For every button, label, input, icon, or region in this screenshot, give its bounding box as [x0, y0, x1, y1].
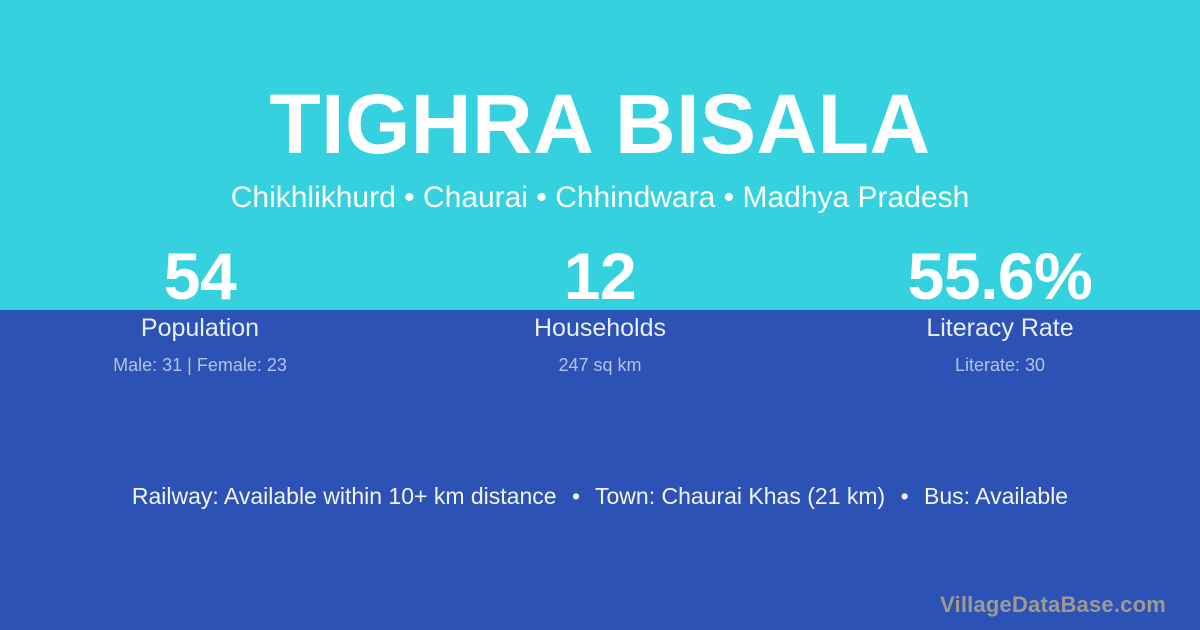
brand-watermark: VillageDataBase.com [940, 594, 1166, 616]
stat-value-population: 54 [0, 243, 400, 305]
breadcrumb: Chikhlikhurd • Chaurai • Chhindwara • Ma… [0, 166, 1200, 213]
stat-label-population: Population [0, 316, 400, 341]
stat-label-households: Households [400, 316, 800, 341]
info-railway: Railway: Available within 10+ km distanc… [132, 483, 557, 509]
info-town: Town: Chaurai Khas (21 km) [595, 483, 885, 509]
info-separator-2: • [892, 485, 918, 508]
stat-sub-households: 247 sq km [400, 356, 800, 374]
stat-sub-literacy-rate: Literate: 30 [800, 356, 1200, 374]
stat-population: 54 Population Male: 31 | Female: 23 [0, 243, 400, 374]
stats-row: 54 Population Male: 31 | Female: 23 12 H… [0, 243, 1200, 374]
info-bus: Bus: Available [924, 483, 1068, 509]
amenities-info-bar: Railway: Available within 10+ km distanc… [0, 485, 1200, 508]
stat-label-literacy-rate: Literacy Rate [800, 316, 1200, 341]
village-info-card: TIGHRA BISALA Chikhlikhurd • Chaurai • C… [0, 0, 1200, 630]
stat-literacy-rate: 55.6% Literacy Rate Literate: 30 [800, 243, 1200, 374]
page-title: TIGHRA BISALA [0, 0, 1200, 166]
stat-households: 12 Households 247 sq km [400, 243, 800, 374]
info-separator-1: • [563, 485, 589, 508]
stat-sub-population: Male: 31 | Female: 23 [0, 356, 400, 374]
card-header: TIGHRA BISALA Chikhlikhurd • Chaurai • C… [0, 0, 1200, 213]
stat-value-households: 12 [400, 243, 800, 305]
stat-value-literacy-rate: 55.6% [800, 243, 1200, 305]
